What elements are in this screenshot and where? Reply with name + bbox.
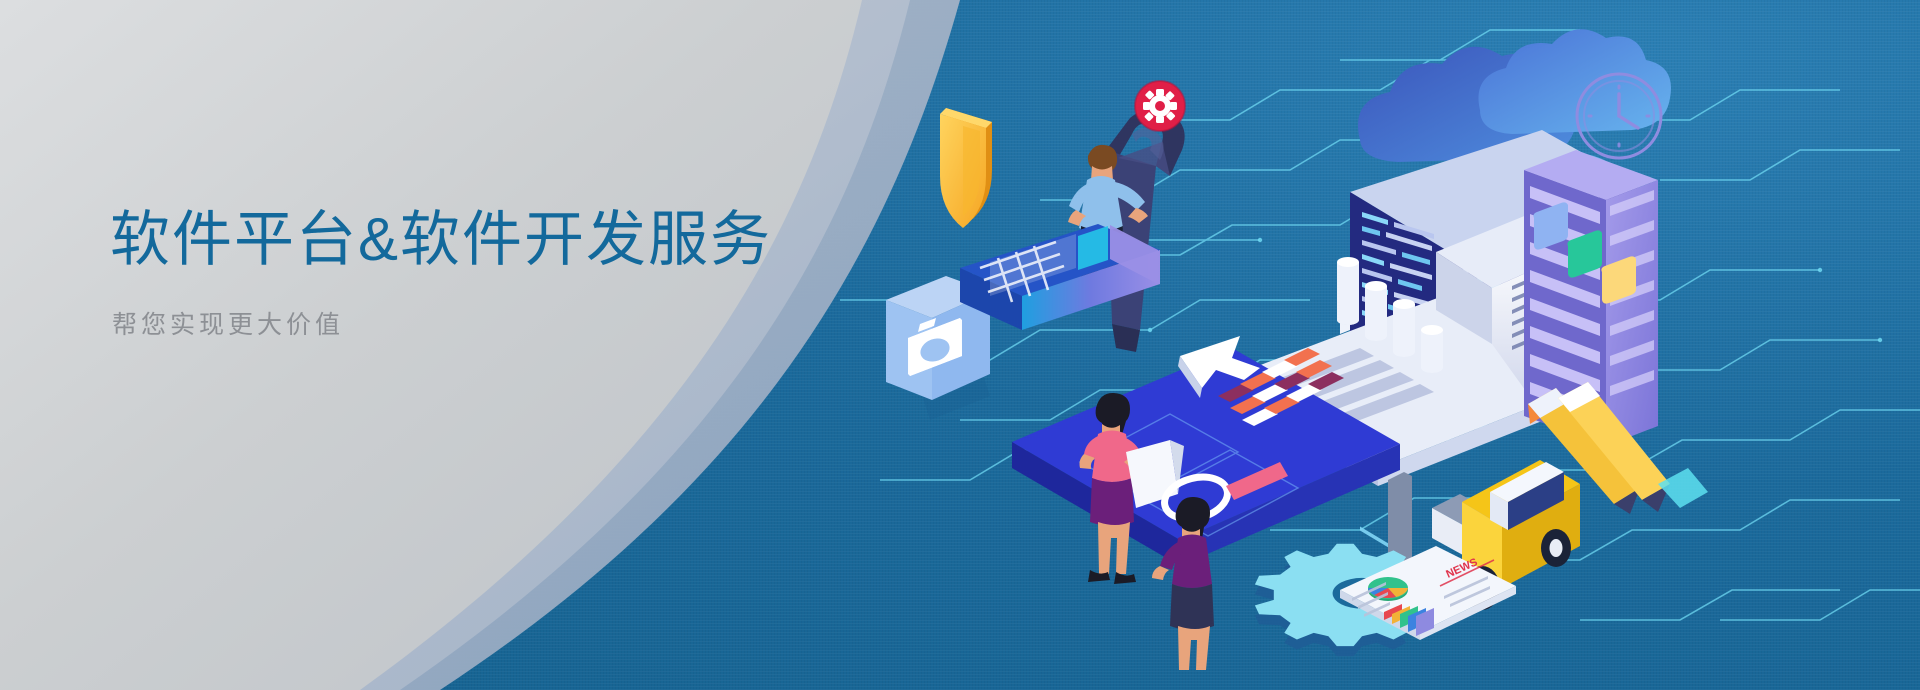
clock-icon [1577,74,1661,158]
code-screen [1360,526,1388,547]
isometric-illustration: NEWS [840,0,1920,690]
page-subtitle: 帮您实现更大价值 [112,309,870,342]
hero-copy: 软件平台&软件开发服务 帮您实现更大价值 [110,206,870,342]
page-title: 软件平台&软件开发服务 [110,206,870,273]
gear-badge-icon [1135,81,1185,131]
hero-banner: NEWS [0,0,1920,690]
shield-icon [940,108,992,228]
